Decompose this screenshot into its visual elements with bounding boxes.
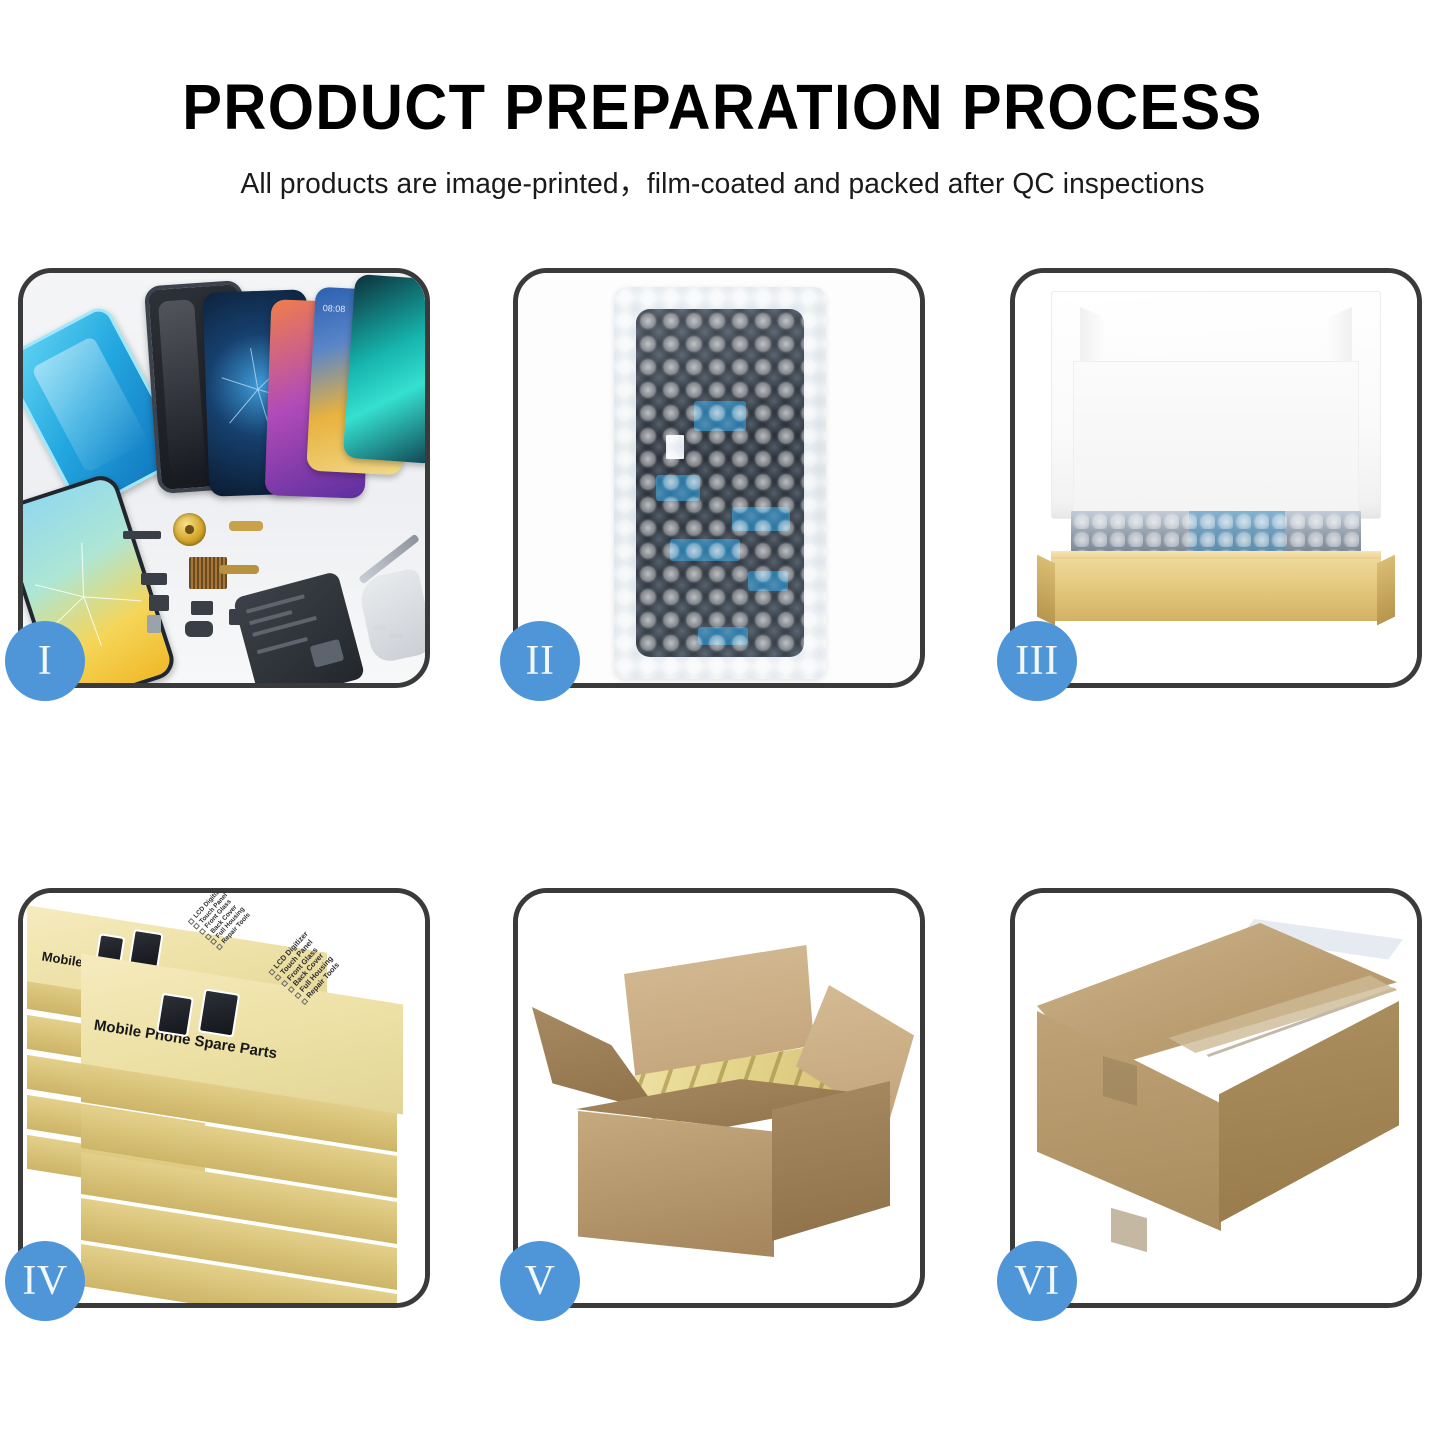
step-badge-2: II <box>500 621 580 701</box>
box-front-panel <box>1051 559 1381 621</box>
earpiece-component <box>123 531 161 539</box>
process-step-card-5: V <box>513 888 925 1308</box>
flex-cable-component <box>219 565 259 574</box>
small-connector-component <box>141 573 167 585</box>
step-badge-4: IV <box>5 1241 85 1321</box>
bubble-wrap-sleeve <box>614 287 826 679</box>
small-connector-component <box>149 595 169 611</box>
retail-box-screen-image <box>156 993 194 1038</box>
step-6-image <box>1015 893 1417 1303</box>
flex-cable-component <box>229 521 263 531</box>
process-step-card-1: 08:08 <box>18 268 430 688</box>
box-interior-white <box>1073 361 1359 513</box>
step-badge-3: III <box>997 621 1077 701</box>
step-3-image <box>1015 273 1417 683</box>
vibrator-component <box>185 621 213 637</box>
step-2-image <box>518 273 920 683</box>
step-badge-6: VI <box>997 1241 1077 1321</box>
teal-gradient-phone <box>343 274 425 464</box>
page-subtitle: All products are image-printed，film-coat… <box>22 160 1424 202</box>
process-step-grid: 08:08 <box>18 268 1427 1308</box>
step-badge-5: V <box>500 1241 580 1321</box>
page-title: PRODUCT PREPARATION PROCESS <box>51 72 1395 144</box>
process-step-card-6: VI <box>1010 888 1422 1308</box>
camera-module-component <box>191 601 213 615</box>
phone-clock-label: 08:08 <box>323 303 346 314</box>
process-step-card-3: III <box>1010 268 1422 688</box>
bubble-texture <box>614 287 826 679</box>
product-preparation-infographic: PRODUCT PREPARATION PROCESS All products… <box>0 0 1445 1445</box>
process-step-card-4: Mobile Phone Spare Parts LCD Digitizer T… <box>18 888 430 1308</box>
process-step-card-2: II <box>513 268 925 688</box>
step-5-image <box>518 893 920 1303</box>
carton-front-panel <box>578 1111 774 1257</box>
step-1-image: 08:08 <box>23 273 425 683</box>
header: PRODUCT PREPARATION PROCESS All products… <box>0 72 1445 202</box>
gold-speaker-component <box>173 513 206 546</box>
step-4-image: Mobile Phone Spare Parts LCD Digitizer T… <box>23 893 425 1303</box>
retail-box-screen-image <box>198 988 240 1037</box>
sim-tray-component <box>147 615 161 633</box>
step-badge-1: I <box>5 621 85 701</box>
